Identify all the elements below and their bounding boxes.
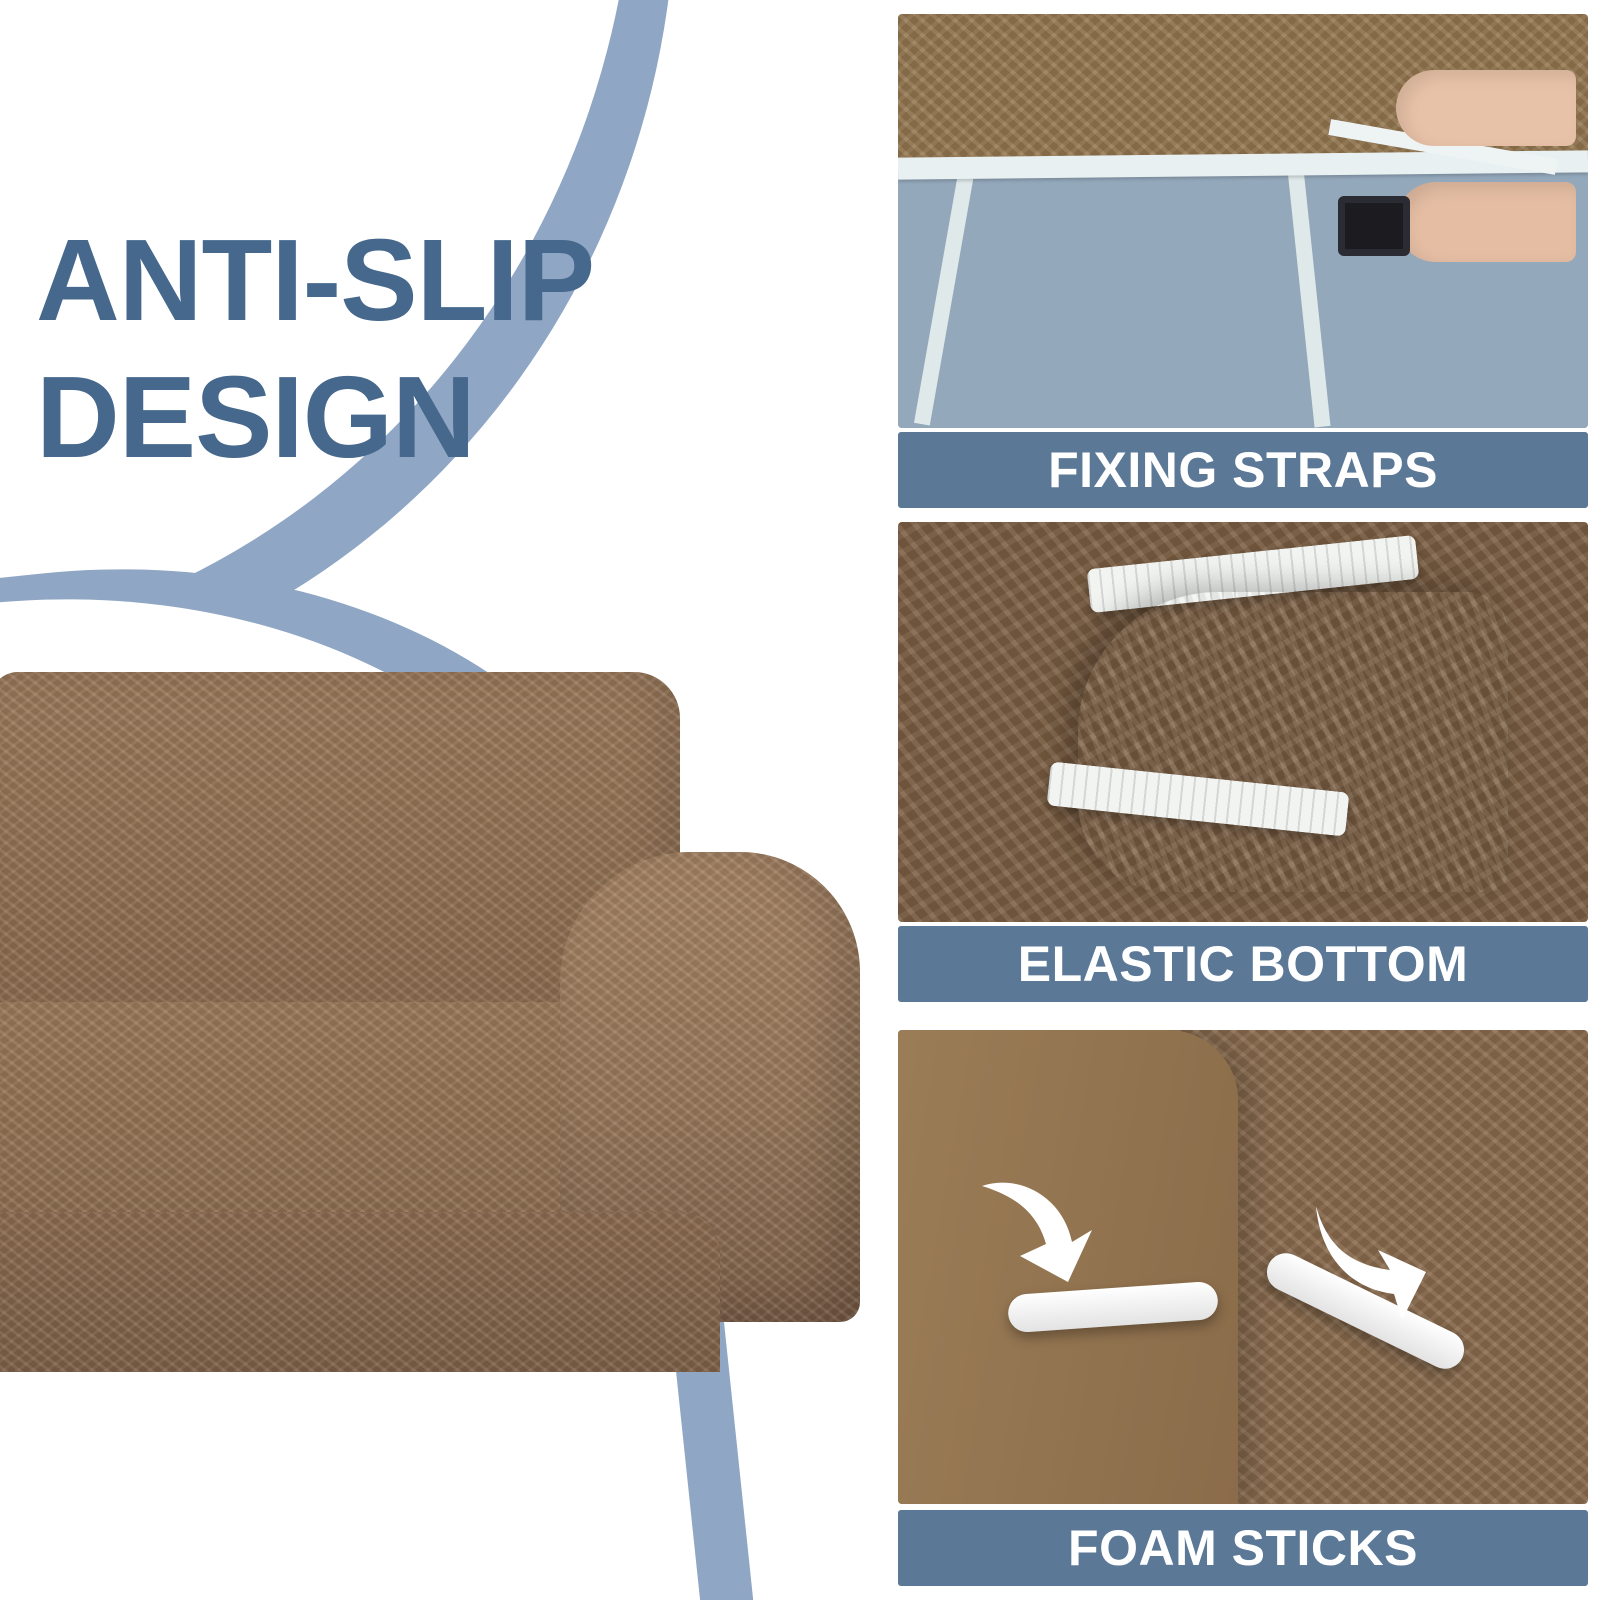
caption-foam-sticks: FOAM STICKS: [898, 1510, 1588, 1586]
feature-panel-fixing-straps: FIXING STRAPS: [898, 14, 1588, 508]
feature-panel-list: FIXING STRAPS ELASTIC BOTTOM: [898, 14, 1588, 1589]
anti-slip-design-infographic: ANTI-SLIP DESIGN FIXING STRAPS: [0, 0, 1600, 1600]
feature-panel-foam-sticks: FOAM STICKS: [898, 1030, 1588, 1586]
slipcover-fold: [1078, 592, 1508, 892]
foam-sticks-photo: [898, 1030, 1588, 1504]
sofa-base-skirt: [0, 1212, 720, 1372]
fabric-weave-texture: [0, 1212, 720, 1372]
elastic-bottom-photo: [898, 522, 1588, 922]
page-title: ANTI-SLIP DESIGN: [36, 212, 796, 486]
sofa-illustration: [0, 672, 870, 1372]
feature-panel-elastic-bottom: ELASTIC BOTTOM: [898, 522, 1588, 1002]
buckle-icon: [1338, 196, 1410, 256]
fixing-straps-photo: [898, 14, 1588, 428]
hand-icon: [1396, 70, 1576, 146]
caption-elastic-bottom: ELASTIC BOTTOM: [898, 926, 1588, 1002]
hand-icon: [1396, 182, 1576, 262]
caption-fixing-straps: FIXING STRAPS: [898, 432, 1588, 508]
